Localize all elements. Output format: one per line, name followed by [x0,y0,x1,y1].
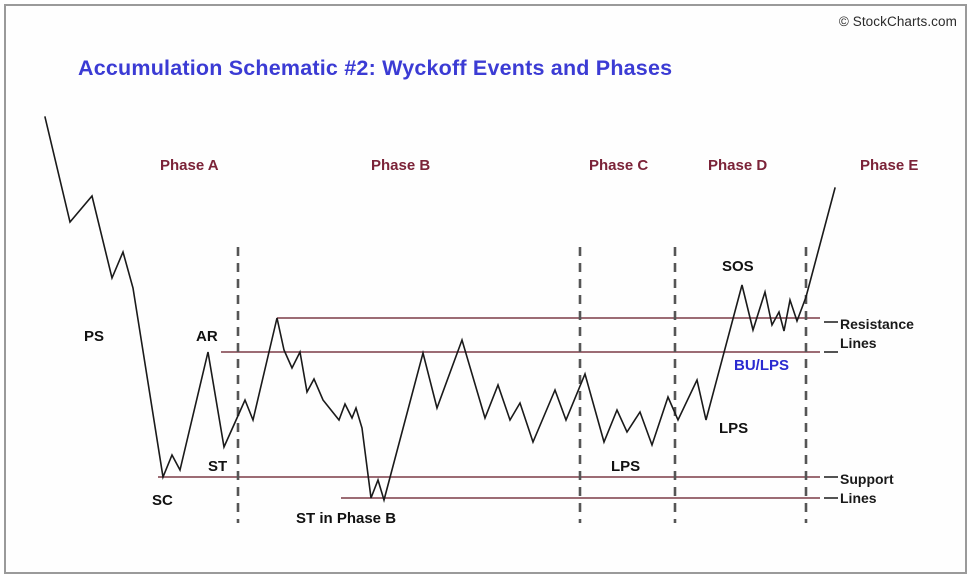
side-label-support-lines-line1: Support [840,470,894,489]
side-label-support-lines: SupportLines [840,470,894,508]
phase-label-c: Phase C [589,157,648,174]
chart-graphics [0,0,975,582]
event-label-st-phase-b: ST in Phase B [296,510,396,527]
event-label-sos: SOS [722,258,754,275]
schematic-canvas: © StockCharts.com Accumulation Schematic… [0,0,975,582]
event-label-bu-lps: BU/LPS [734,357,789,374]
phase-label-d: Phase D [708,157,767,174]
event-label-lps-d: LPS [719,420,748,437]
event-label-sc: SC [152,492,173,509]
phase-label-a: Phase A [160,157,219,174]
side-label-resistance-lines-line1: Resistance [840,315,914,334]
event-label-ar: AR [196,328,218,345]
side-label-resistance-lines: ResistanceLines [840,315,914,353]
event-label-st: ST [208,458,227,475]
price-series-price [45,117,835,500]
phase-label-b: Phase B [371,157,430,174]
event-label-lps-c: LPS [611,458,640,475]
phase-dividers [238,247,806,523]
side-label-resistance-lines-line2: Lines [840,334,914,353]
event-label-ps: PS [84,328,104,345]
side-label-support-lines-line2: Lines [840,489,894,508]
price-path [45,117,835,500]
line-connectors [824,322,838,498]
phase-label-e: Phase E [860,157,918,174]
